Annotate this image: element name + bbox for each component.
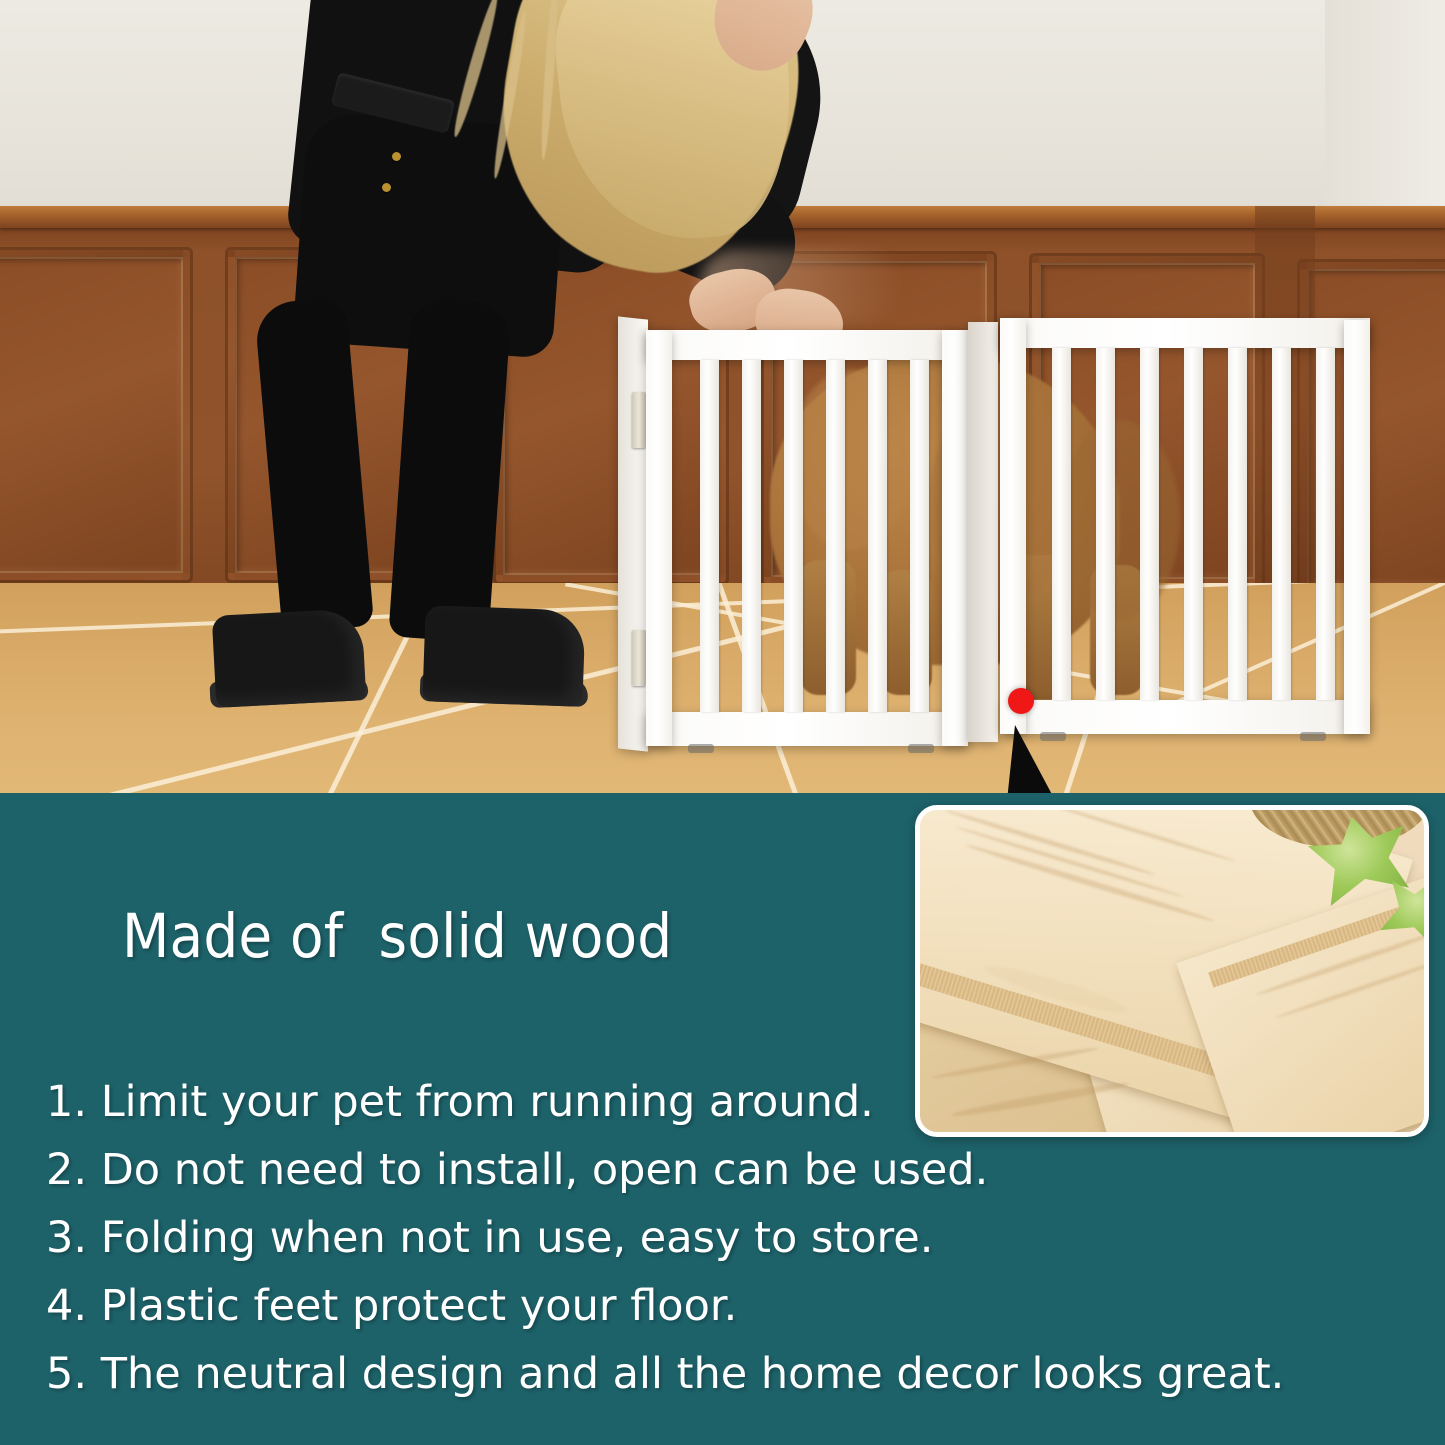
gate-slat	[1052, 348, 1071, 700]
gate-slat	[784, 360, 803, 712]
gate-slat	[1228, 348, 1247, 700]
gate-end-post	[618, 316, 648, 751]
plastic-foot	[688, 744, 714, 753]
gate-slat	[910, 360, 929, 712]
gate-slat	[826, 360, 845, 712]
list-item: 5. The neutral design and all the home d…	[46, 1353, 1386, 1396]
solid-wood-inset-photo	[915, 805, 1429, 1137]
gate-slat	[1096, 348, 1115, 700]
pocket-stud	[392, 152, 401, 161]
gate-slat	[742, 360, 761, 712]
list-item: 2. Do not need to install, open can be u…	[46, 1149, 1386, 1192]
page-title: Made of solid wood	[122, 901, 672, 972]
panel-left-stile	[1000, 318, 1026, 734]
info-panel: Made of solid wood 1. Limit your pet fro…	[0, 793, 1445, 1445]
panel-left-stile	[646, 330, 672, 746]
product-infographic: Made of solid wood 1. Limit your pet fro…	[0, 0, 1445, 1445]
gate-center-post	[968, 322, 998, 742]
hero-photo	[0, 0, 1445, 793]
gate-hinge	[632, 392, 646, 448]
panel-bottom-rail	[646, 712, 968, 746]
plastic-foot	[1300, 732, 1326, 741]
list-item: 4. Plastic feet protect your floor.	[46, 1285, 1386, 1328]
gate-slat	[868, 360, 887, 712]
plastic-foot	[908, 744, 934, 753]
panel-top-rail	[646, 330, 968, 360]
boot-left	[212, 608, 367, 708]
panel-right-stile	[942, 330, 968, 746]
gate-slat	[1272, 348, 1291, 700]
pocket-stud	[382, 183, 391, 192]
wall-panel	[0, 250, 190, 580]
gate-slat	[1184, 348, 1203, 700]
gate-hinge	[632, 630, 646, 686]
panel-top-rail	[1000, 318, 1370, 348]
boot-right	[422, 605, 585, 707]
list-item: 3. Folding when not in use, easy to stor…	[46, 1217, 1386, 1260]
gate-slat	[1140, 348, 1159, 700]
panel-right-stile	[1344, 320, 1370, 734]
gate-slat	[1316, 348, 1335, 700]
gate-slat	[700, 360, 719, 712]
